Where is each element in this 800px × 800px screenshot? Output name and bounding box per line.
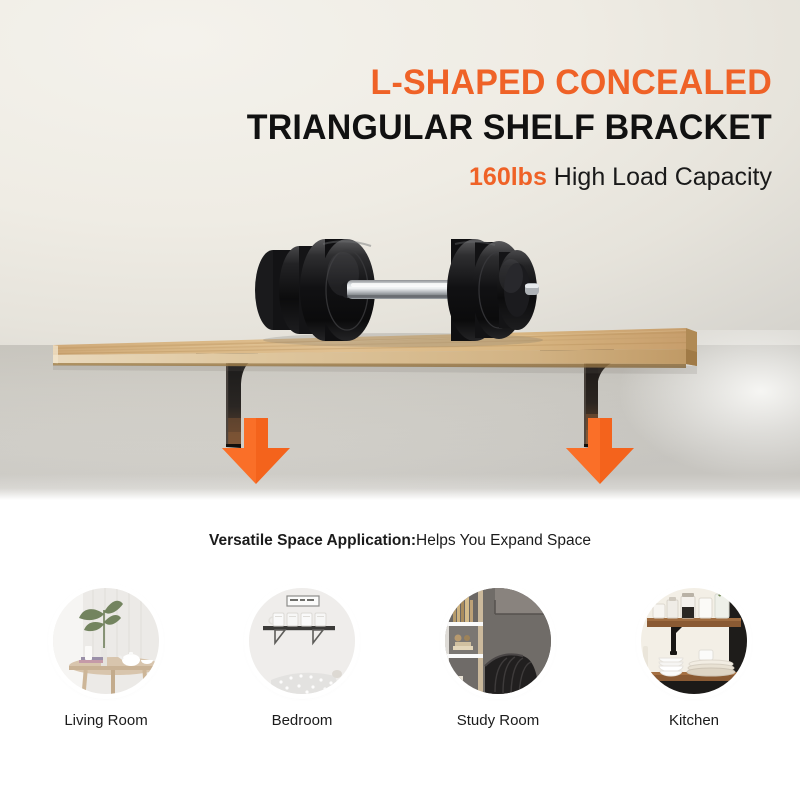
application-label: Bedroom bbox=[272, 712, 333, 730]
headline-line-1: L-SHAPED CONCEALED bbox=[151, 62, 772, 103]
applications-section: Versatile Space Application:Helps You Ex… bbox=[0, 500, 800, 800]
application-item-bedroom[interactable]: Bedroom bbox=[204, 588, 400, 730]
caption-regular: Helps You Expand Space bbox=[416, 532, 591, 549]
application-label: Living Room bbox=[64, 712, 147, 730]
application-list: Living Room bbox=[0, 588, 800, 730]
section-fade bbox=[0, 474, 800, 500]
caption-bold: Versatile Space Application: bbox=[209, 532, 416, 549]
application-label: Study Room bbox=[457, 712, 540, 730]
bedroom-thumbnail bbox=[249, 588, 355, 694]
study-room-thumbnail bbox=[445, 588, 551, 694]
application-item-kitchen[interactable]: Kitchen bbox=[596, 588, 792, 730]
hero-section: L-SHAPED CONCEALED TRIANGULAR SHELF BRAC… bbox=[0, 0, 800, 500]
application-label: Kitchen bbox=[669, 712, 719, 730]
headline-block: L-SHAPED CONCEALED TRIANGULAR SHELF BRAC… bbox=[132, 62, 772, 192]
load-direction-arrow bbox=[214, 418, 298, 486]
application-item-study-room[interactable]: Study Room bbox=[400, 588, 596, 730]
section-caption: Versatile Space Application:Helps You Ex… bbox=[0, 532, 800, 551]
dumbbell-icon bbox=[243, 222, 563, 347]
load-direction-arrow bbox=[558, 418, 642, 486]
capacity-value: 160lbs bbox=[469, 163, 547, 191]
living-room-thumbnail bbox=[53, 588, 159, 694]
capacity-text: High Load Capacity bbox=[547, 163, 772, 191]
kitchen-thumbnail bbox=[641, 588, 747, 694]
application-item-living-room[interactable]: Living Room bbox=[8, 588, 204, 730]
headline-line-2: TRIANGULAR SHELF BRACKET bbox=[151, 107, 772, 149]
capacity-line: 160lbs High Load Capacity bbox=[132, 162, 772, 192]
